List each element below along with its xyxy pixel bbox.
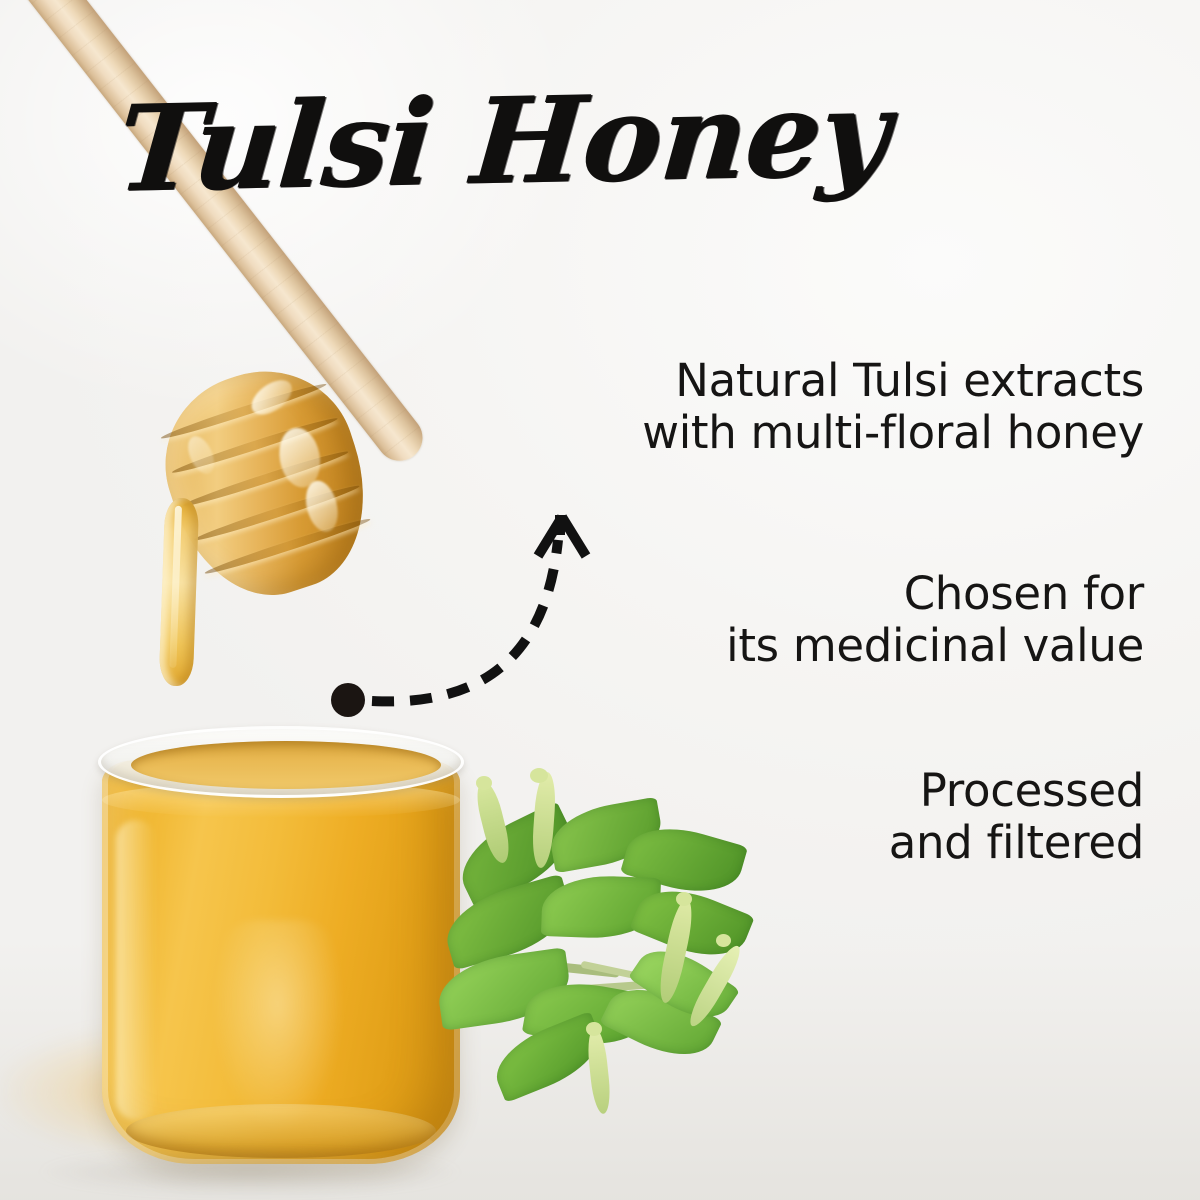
feature-1-line-2: with multi-floral honey: [642, 407, 1144, 459]
feature-natural-tulsi-extracts: Natural Tulsi extracts with multi-floral…: [642, 355, 1144, 459]
product-poster: Tulsi Honey Natural Tulsi extracts with …: [0, 0, 1200, 1200]
feature-2-line-1: Chosen for: [726, 568, 1144, 620]
jar-shadow: [40, 1150, 460, 1194]
jar-rim: [98, 726, 464, 798]
jar-honey-surface: [131, 741, 441, 789]
feature-medicinal-value: Chosen for its medicinal value: [726, 568, 1144, 672]
jar-glass-edge: [102, 760, 460, 1164]
feature-3-line-1: Processed: [889, 765, 1144, 817]
honey-stream: [159, 497, 200, 686]
feature-processed-filtered: Processed and filtered: [889, 765, 1144, 869]
feature-2-line-2: its medicinal value: [726, 620, 1144, 672]
honey-jar: [96, 726, 466, 1174]
feature-1-line-1: Natural Tulsi extracts: [642, 355, 1144, 407]
feature-3-line-2: and filtered: [889, 817, 1144, 869]
tulsi-herb-bunch: [430, 772, 800, 1132]
page-title: Tulsi Honey: [113, 70, 894, 211]
